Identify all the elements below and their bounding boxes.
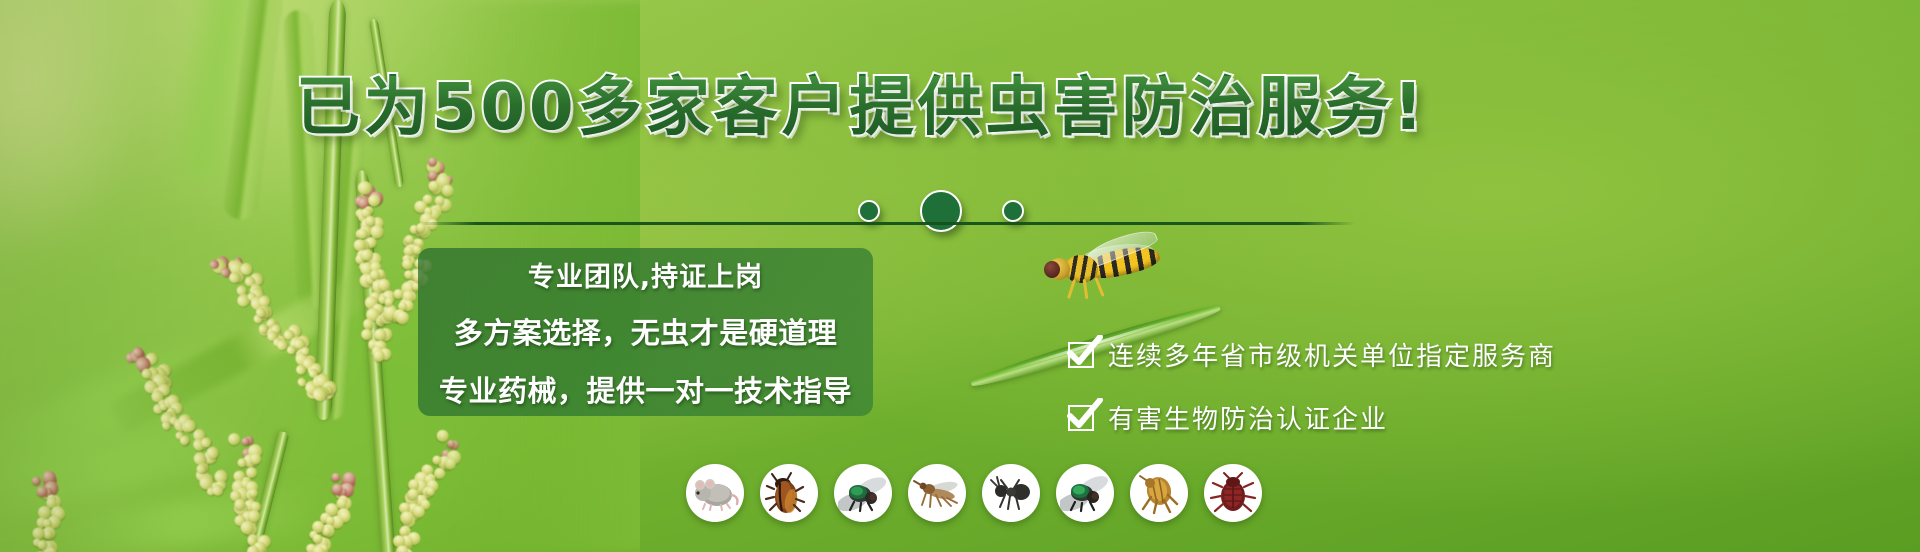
- hoverfly-icon: [1040, 243, 1164, 299]
- mosquito-icon[interactable]: [908, 464, 966, 522]
- bedbug-icon[interactable]: [1204, 464, 1262, 522]
- dot-small-left: [858, 200, 880, 222]
- headline-fill: 已为500多家客户提供虫害防治服务!: [296, 76, 1427, 140]
- credentials-checklist: 连续多年省市级机关单位指定服务商 有害生物防治认证企业: [1068, 336, 1556, 436]
- feature-line-3: 专业药械，提供一对一技术指导: [439, 368, 852, 410]
- blowfly-icon[interactable]: [1056, 464, 1114, 522]
- checklist-item: 有害生物防治认证企业: [1068, 399, 1556, 436]
- mouse-icon[interactable]: [686, 464, 744, 522]
- cockroach-icon[interactable]: [760, 464, 818, 522]
- banner-headline: 已为500多家客户提供虫害防治服务! 已为500多家客户提供虫害防治服务!: [296, 76, 1427, 140]
- checklist-item-label: 连续多年省市级机关单位指定服务商: [1108, 336, 1556, 373]
- checklist-item: 连续多年省市级机关单位指定服务商: [1068, 336, 1556, 373]
- fly-icon[interactable]: [834, 464, 892, 522]
- checkbox-checked-icon: [1068, 405, 1094, 431]
- checklist-item-label: 有害生物防治认证企业: [1108, 399, 1388, 436]
- dot-small-right: [1002, 200, 1024, 222]
- ant-icon[interactable]: [982, 464, 1040, 522]
- feature-line-2: 多方案选择，无虫才是硬道理: [454, 310, 838, 352]
- pest-icon-row: [686, 464, 1262, 522]
- fly-eye: [1044, 261, 1060, 278]
- feature-line-1: 专业团队,持证上岗: [528, 255, 763, 294]
- fly-leg: [1094, 277, 1104, 297]
- decorative-dot-row: [858, 190, 1024, 232]
- dot-large-center: [920, 190, 962, 232]
- checkbox-checked-icon: [1068, 342, 1094, 368]
- horizontal-divider: [420, 222, 1355, 225]
- promo-banner: 已为500多家客户提供虫害防治服务! 已为500多家客户提供虫害防治服务! 专业…: [0, 0, 1920, 552]
- flea-icon[interactable]: [1130, 464, 1188, 522]
- fly-leg: [1067, 279, 1076, 299]
- feature-text-box: 专业团队,持证上岗 多方案选择，无虫才是硬道理 专业药械，提供一对一技术指导: [418, 248, 873, 416]
